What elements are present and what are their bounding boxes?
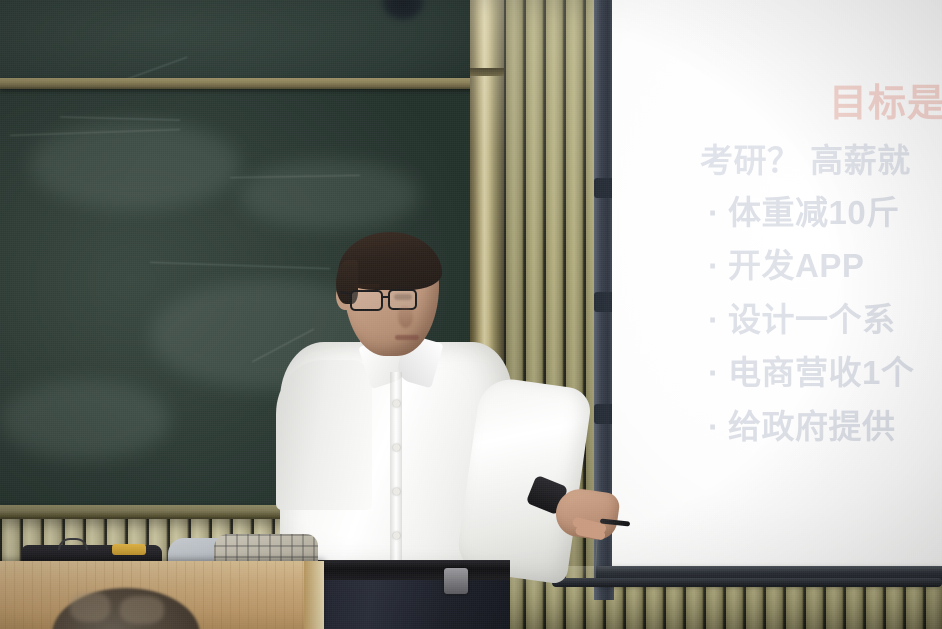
slide-bullet-list: 体重减10斤 开发APP 设计一个系 电商营收1个 给政府提供	[708, 186, 914, 453]
projection-screen: 目标是 考研？ 高薪就 体重减10斤 开发APP 设计一个系 电商营收1个 给政…	[612, 0, 942, 566]
projected-slide: 目标是 考研？ 高薪就 体重减10斤 开发APP 设计一个系 电商营收1个 给政…	[612, 0, 942, 566]
slide-bullet-item: 开发APP	[708, 239, 914, 292]
glasses-lens-left	[350, 290, 383, 311]
slide-bullet-item: 设计一个系	[708, 293, 914, 346]
bag-handle	[58, 538, 88, 550]
shirt-button	[393, 532, 400, 539]
phone-belt-clip	[444, 568, 468, 594]
nose	[398, 306, 413, 328]
lecture-hall-photo: 目标是 考研？ 高薪就 体重减10斤 开发APP 设计一个系 电商营收1个 给政…	[0, 0, 942, 629]
belt	[314, 560, 510, 580]
glasses-bridge	[382, 296, 389, 298]
slide-bullet-item: 电商营收1个	[708, 346, 914, 399]
frame-joint	[470, 68, 504, 76]
yellow-object	[112, 544, 146, 555]
shirt-shoulder-left	[276, 360, 372, 510]
slide-title: 目标是	[829, 72, 942, 127]
chalk-smudge	[240, 160, 420, 230]
student-hair-strand	[120, 596, 164, 624]
shirt-button	[393, 444, 400, 451]
slide-subtitle: 考研？ 高薪就	[700, 134, 911, 182]
slide-bullet-item: 给政府提供	[708, 400, 914, 453]
shirt-button	[393, 400, 400, 407]
shirt-button	[393, 488, 400, 495]
slide-bullet-item: 体重减10斤	[708, 186, 914, 239]
eyebrow	[354, 284, 380, 288]
student-hair-strand	[70, 592, 110, 622]
chalk-smudge	[0, 380, 170, 460]
podium-side-edge	[304, 561, 324, 629]
screen-edge-tab	[594, 178, 614, 198]
mouth	[395, 335, 419, 340]
